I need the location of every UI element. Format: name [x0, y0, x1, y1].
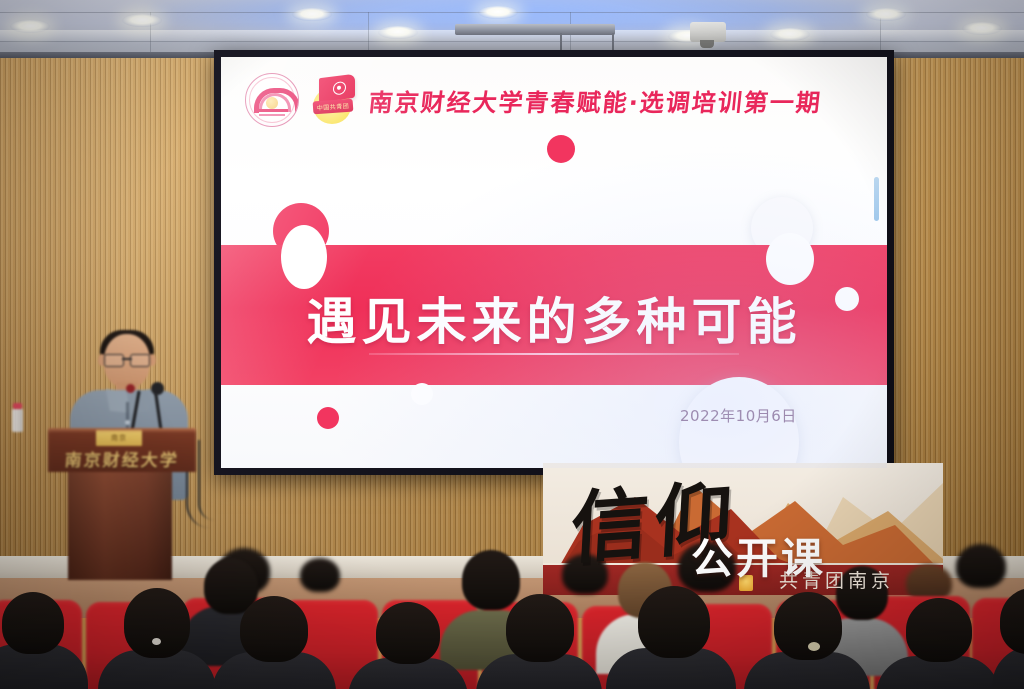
hair-tie — [152, 638, 161, 645]
podium-engraved-text: 南京财经大学 — [53, 446, 191, 470]
bottle-cap — [13, 403, 22, 409]
cyl-star-icon — [333, 81, 346, 96]
audience — [0, 540, 1024, 689]
seal-sun — [266, 97, 278, 109]
projector-icon — [690, 22, 726, 42]
ceiling-seam — [0, 41, 1024, 42]
seal-base — [256, 109, 288, 112]
decor-blue-tick — [874, 177, 879, 221]
audience-head — [124, 588, 190, 658]
cyl-ribbon-label: 中国共青团 — [313, 99, 354, 115]
slide-title-underline — [369, 353, 739, 355]
decor-dot-white — [281, 225, 327, 289]
microphone-cable — [198, 440, 214, 520]
audience-head — [774, 592, 842, 660]
hair-clip — [808, 642, 820, 651]
audience-head — [2, 592, 64, 654]
projection-screen: 中国共青团 南京财经大学青春赋能·选调培训第一期 遇见未来的多种可能 2022年… — [221, 57, 887, 468]
audience-head — [906, 598, 972, 662]
slide-main-title: 遇见未来的多种可能 — [221, 282, 887, 354]
audience-head — [376, 602, 440, 664]
cyl-ribbon: 中国共青团 — [313, 99, 354, 115]
university-seal-logo — [245, 73, 299, 127]
downlight-icon — [292, 8, 332, 21]
decor-dot-pink — [547, 135, 575, 163]
lecture-hall-photo: 中国共青团 南京财经大学青春赋能·选调培训第一期 遇见未来的多种可能 2022年… — [0, 0, 1024, 689]
decor-dot-white — [411, 383, 433, 405]
glasses-lens — [130, 354, 150, 367]
audience-head — [956, 544, 1006, 588]
projector-rail — [455, 24, 615, 35]
water-bottle — [12, 408, 23, 432]
projector-lens-icon — [700, 40, 714, 48]
banner-subtitle: 公开课 — [691, 525, 826, 586]
downlight-icon — [478, 6, 518, 19]
microphone-head — [151, 382, 164, 395]
slide-date: 2022年10月6日 — [680, 405, 797, 426]
projection-screen-frame: 中国共青团 南京财经大学青春赋能·选调培训第一期 遇见未来的多种可能 2022年… — [214, 50, 894, 475]
downlight-icon — [962, 22, 1002, 35]
audience-head — [638, 586, 710, 658]
audience-head — [462, 550, 520, 610]
glasses-icon — [104, 354, 150, 365]
downlight-icon — [770, 28, 810, 41]
podium-top: 南京 南京财经大学 — [48, 428, 196, 472]
communist-youth-league-emblem: 中国共青团 — [309, 74, 359, 126]
stage-banner: 信仰 公开课 共青团南京 — [543, 463, 943, 595]
audience-head — [506, 594, 574, 662]
slide-header: 中国共青团 南京财经大学青春赋能·选调培训第一期 — [245, 73, 822, 127]
seal-base-inner — [259, 114, 285, 116]
podium-nameplate-label: 南京 — [96, 430, 142, 446]
glasses-lens — [104, 354, 124, 367]
decor-dot-white — [766, 233, 814, 285]
shirt-button — [125, 420, 130, 425]
microphone-head — [126, 384, 135, 393]
downlight-icon — [10, 20, 50, 33]
decor-dot-pink — [317, 407, 339, 429]
slide-header-title: 南京财经大学青春赋能·选调培训第一期 — [367, 83, 824, 118]
podium-nameplate: 南京 — [96, 430, 142, 446]
audience-head — [300, 558, 340, 592]
audience-head — [240, 596, 308, 662]
downlight-icon — [122, 14, 162, 27]
downlight-icon — [866, 8, 906, 21]
downlight-icon — [378, 26, 418, 39]
